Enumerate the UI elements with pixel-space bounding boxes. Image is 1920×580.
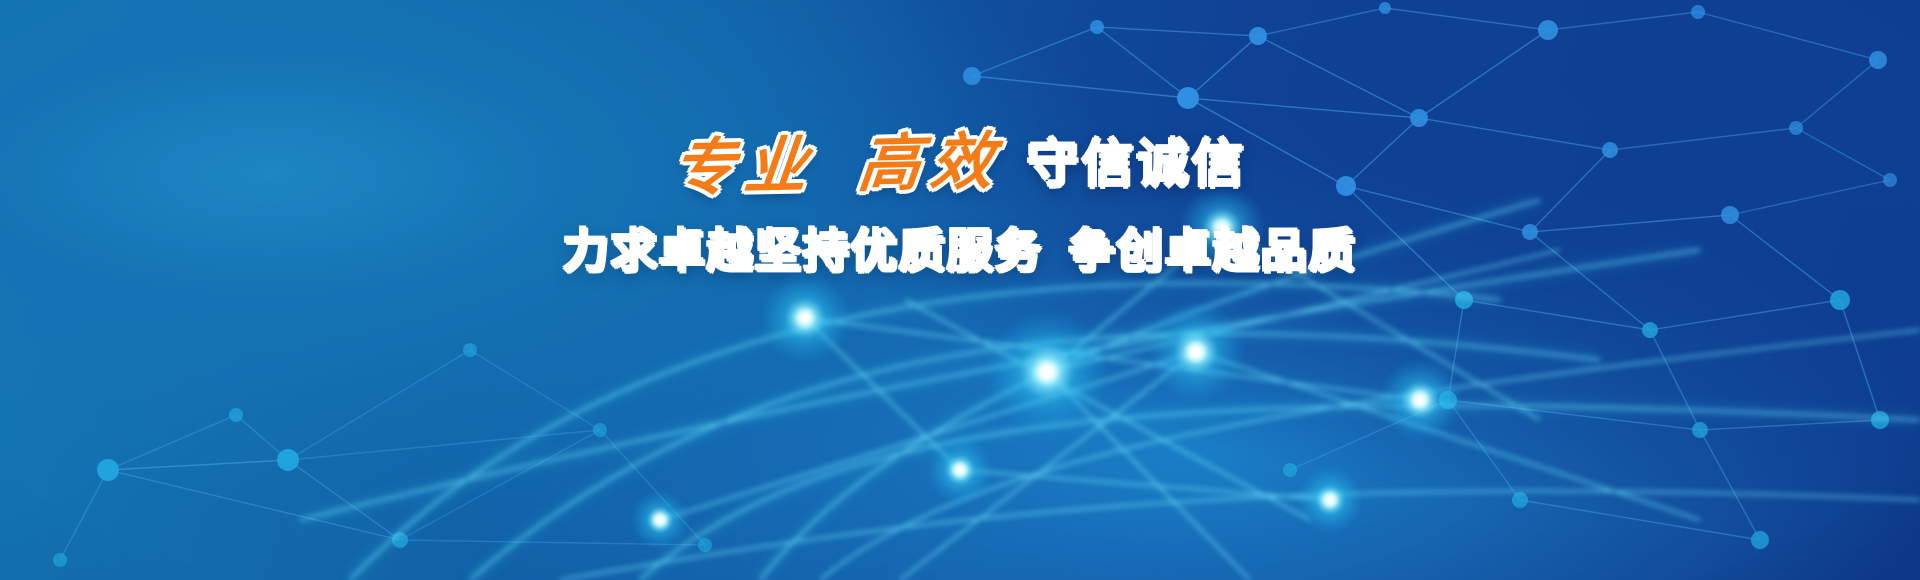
glow-network-graphic [0,0,1920,580]
promo-banner: 专业 高效守信诚信 力求卓越坚持优质服务争创卓越品质 [0,0,1920,580]
